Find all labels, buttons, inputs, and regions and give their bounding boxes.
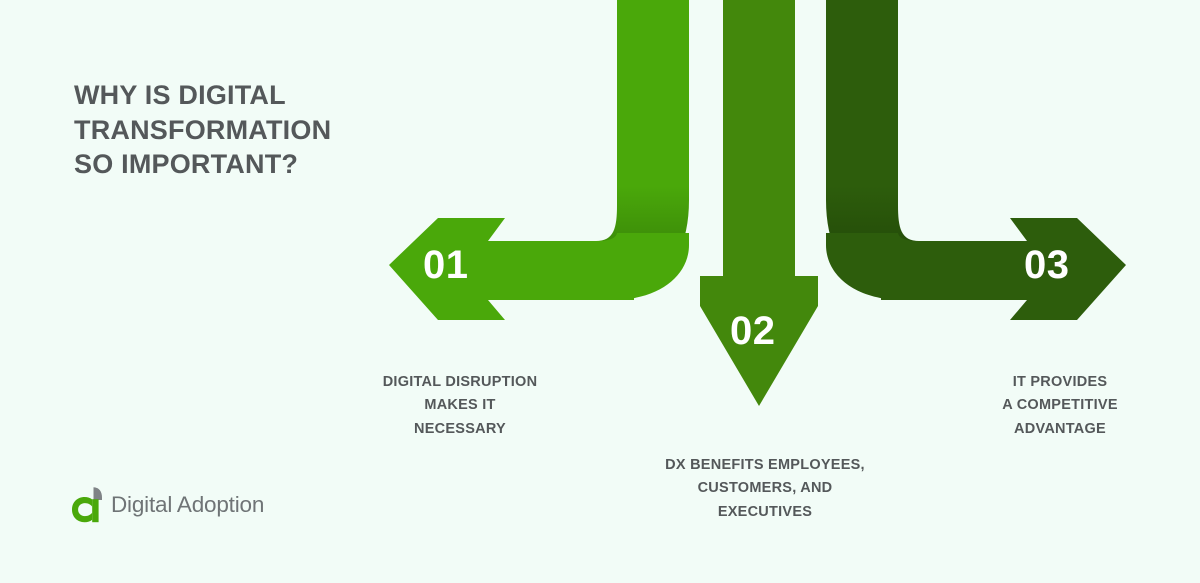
infographic-canvas: Why is digital transformation so importa… <box>0 0 1200 583</box>
step-number-01: 01 <box>423 245 469 285</box>
arrow-step-03 <box>826 0 1126 320</box>
step-caption-02: DX benefits employees, customers, and ex… <box>625 454 905 524</box>
step-caption-01: Digital disruption makes it necessary <box>330 371 590 441</box>
step-number-03: 03 <box>1024 245 1070 285</box>
brand-logo: Digital Adoption <box>70 485 264 525</box>
step-caption-03: IT provides a competitive advantage <box>955 371 1165 441</box>
step-number-02: 02 <box>730 311 776 351</box>
digital-adoption-logo-mark-icon <box>70 485 106 525</box>
logo-text: Digital Adoption <box>111 492 264 518</box>
